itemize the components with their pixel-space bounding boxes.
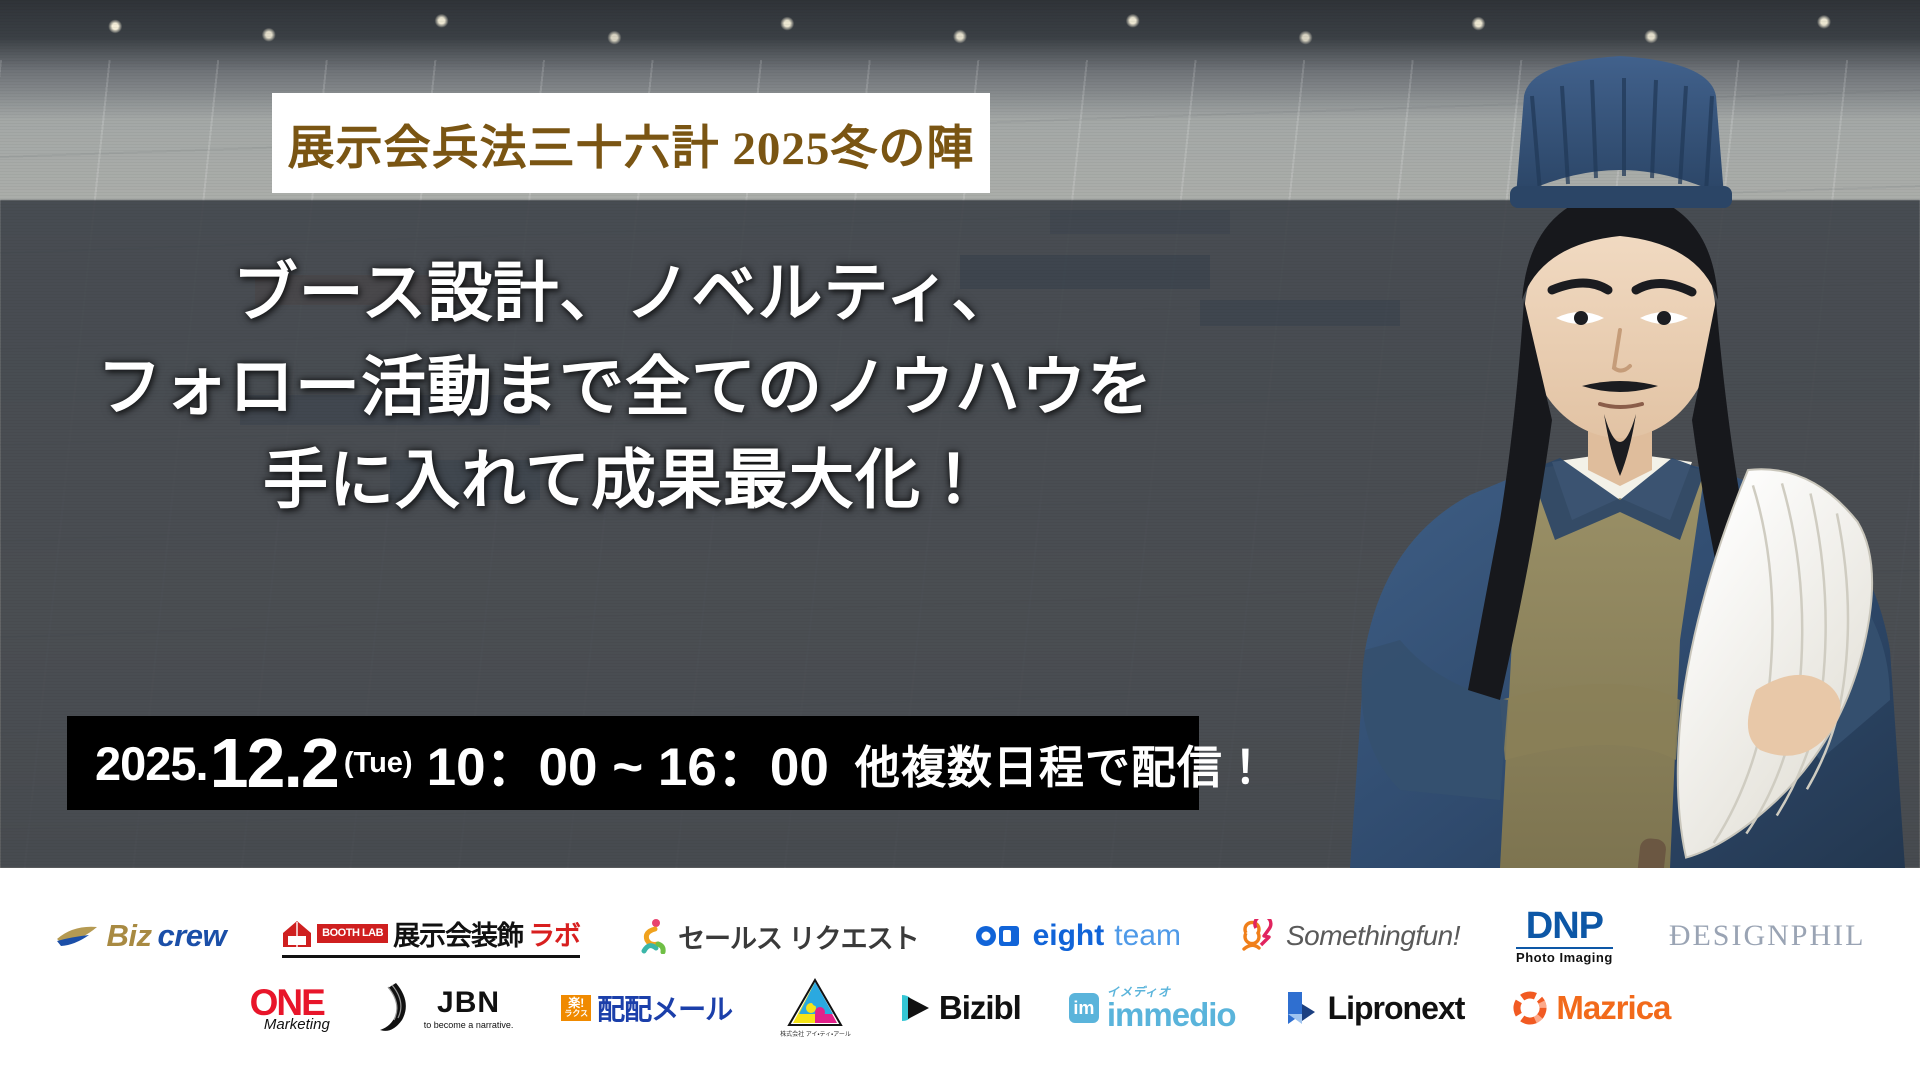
- sponsor-logo-somethingfun[interactable]: Somethingfun!: [1237, 907, 1460, 965]
- dnp-rule: [1516, 947, 1613, 949]
- bizcrew-swoosh-icon: [55, 923, 101, 949]
- haihai-mail-text: 配配メール: [597, 988, 732, 1028]
- lipronext-text: Lipronext: [1328, 990, 1465, 1027]
- bizcrew-text-1: Biz: [107, 918, 152, 954]
- event-day-of-week: (Tue): [344, 747, 413, 780]
- jbn-ribbon-icon: [372, 980, 414, 1036]
- sponsor-logo-lipronext[interactable]: Lipronext: [1284, 979, 1465, 1037]
- event-month-day: 12.2: [210, 723, 338, 803]
- sponsor-logo-dnp[interactable]: DNP Photo Imaging: [1516, 907, 1613, 965]
- designphil-text: ÐESIGNPHIL: [1669, 919, 1866, 953]
- eight-team-text-2: team: [1114, 919, 1181, 953]
- sponsor-logo-bizibl[interactable]: Bizibl: [899, 979, 1021, 1037]
- sponsor-logo-row-2: ONE Marketing JBN to become a narrative.: [40, 979, 1880, 1037]
- sponsor-logo-immedio[interactable]: im イメディオ immedio: [1069, 979, 1236, 1037]
- sponsor-logo-mazrica[interactable]: Mazrica: [1512, 979, 1670, 1037]
- sponsor-logo-puzzle[interactable]: 株式会社 アイ・ティ・アール: [780, 979, 851, 1037]
- eight-team-mark-icon: [975, 924, 1023, 948]
- headline-line-2: フォロー活動まで全てのノウハウを: [0, 340, 1250, 434]
- booth-lab-text-1: 展示会装飾: [393, 914, 523, 953]
- lipronext-mark-icon: [1284, 990, 1318, 1026]
- sales-request-figure-icon: [636, 918, 670, 954]
- dnp-subtext: Photo Imaging: [1516, 950, 1613, 965]
- headline-line-1: ブース設計、ノベルティ、: [0, 246, 1250, 340]
- raku-badge-subtext: ラクス: [564, 1010, 588, 1019]
- event-extra-dates-note: 他複数日程で配信！: [855, 731, 1269, 796]
- sponsor-logo-strip: Bizcrew BOOTH LAB 展示会装飾ラボ: [0, 868, 1920, 1080]
- sponsor-logo-haihai-mail[interactable]: 楽! ラクス 配配メール: [561, 979, 732, 1037]
- somethingfun-mark-icon: [1237, 919, 1279, 953]
- immedio-badge-text: im: [1073, 998, 1094, 1019]
- sales-request-text: セールス リクエスト: [678, 917, 919, 956]
- mazrica-ring-icon: [1512, 990, 1548, 1026]
- hero-headline: ブース設計、ノベルティ、 フォロー活動まで全てのノウハウを 手に入れて成果最大化…: [0, 246, 1250, 527]
- booth-lab-text-2: ラボ: [528, 914, 580, 953]
- event-year: 2025.: [95, 736, 208, 791]
- immedio-badge-icon: im: [1069, 993, 1099, 1023]
- booth-house-icon: [282, 919, 312, 949]
- event-title-text: 展示会兵法三十六計 2025冬の陣: [288, 109, 975, 178]
- hero-banner: 展示会兵法三十六計 2025冬の陣 ブース設計、ノベルティ、 フォロー活動まで全…: [0, 0, 1920, 868]
- mazrica-text: Mazrica: [1556, 989, 1670, 1027]
- event-date-bar: 2025. 12.2 (Tue) 10：00 ~ 16：00 他複数日程で配信！: [67, 716, 1199, 810]
- sponsor-logo-booth-lab[interactable]: BOOTH LAB 展示会装飾ラボ: [282, 907, 580, 965]
- somethingfun-text: Somethingfun!: [1286, 920, 1460, 952]
- sponsor-logo-sales-request[interactable]: セールス リクエスト: [636, 907, 919, 965]
- dnp-text: DNP: [1526, 907, 1603, 945]
- sponsor-logo-bizcrew[interactable]: Bizcrew: [55, 907, 227, 965]
- bizcrew-text-2: crew: [158, 918, 227, 954]
- one-marketing-subtext: Marketing: [264, 1017, 330, 1032]
- strategist-character-illustration: [1200, 0, 1920, 868]
- event-time-range: 10：00 ~ 16：00: [427, 725, 829, 801]
- eight-team-text-1: eight: [1033, 919, 1105, 953]
- raku-badge: 楽! ラクス: [561, 995, 591, 1021]
- puzzle-triangle-icon: [787, 978, 843, 1028]
- booth-lab-badge: BOOTH LAB: [317, 924, 388, 944]
- jbn-text: JBN: [437, 986, 500, 1020]
- immedio-text: immedio: [1107, 998, 1236, 1031]
- bizibl-text: Bizibl: [939, 989, 1021, 1027]
- event-title-plate: 展示会兵法三十六計 2025冬の陣: [272, 93, 990, 193]
- sponsor-logo-row-1: Bizcrew BOOTH LAB 展示会装飾ラボ: [40, 907, 1880, 965]
- sponsor-logo-jbn[interactable]: JBN to become a narrative.: [372, 979, 514, 1037]
- jbn-subtext: to become a narrative.: [424, 1020, 514, 1030]
- sponsor-logo-one-marketing[interactable]: ONE Marketing: [250, 979, 324, 1037]
- raku-badge-text: 楽!: [568, 996, 584, 1010]
- puzzle-caption: 株式会社 アイ・ティ・アール: [780, 1029, 851, 1038]
- sponsor-logo-designphil[interactable]: ÐESIGNPHIL: [1669, 907, 1866, 965]
- headline-line-3: 手に入れて成果最大化！: [0, 433, 1250, 527]
- bizibl-play-icon: [899, 992, 933, 1024]
- landing-page: 展示会兵法三十六計 2025冬の陣 ブース設計、ノベルティ、 フォロー活動まで全…: [0, 0, 1920, 1080]
- sponsor-logo-eight-team[interactable]: eight team: [975, 907, 1181, 965]
